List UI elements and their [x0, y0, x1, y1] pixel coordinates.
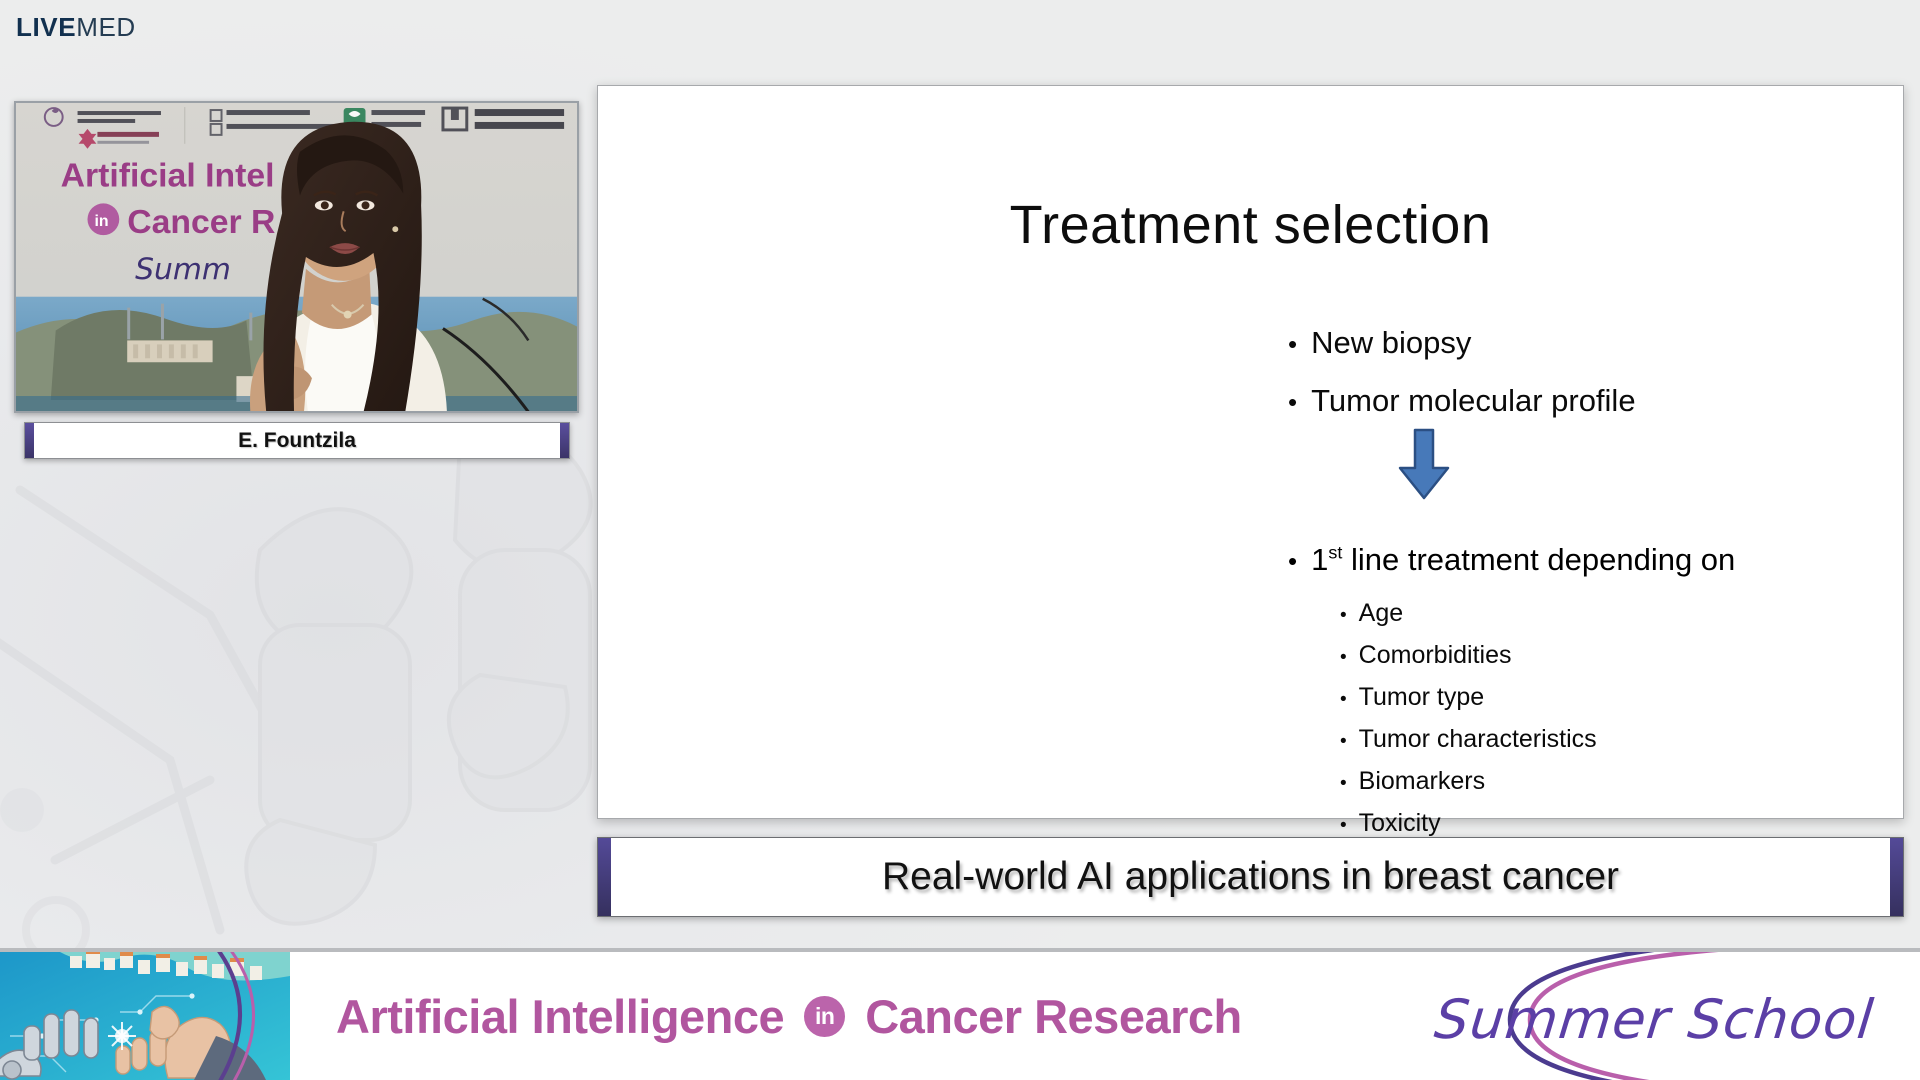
presentation-slide[interactable]: Treatment selection • New biopsy • Tumor… — [597, 85, 1904, 819]
footer-title-ai: Artificial Intelligence — [336, 989, 784, 1044]
sub-bullet-item: • Biomarkers — [1340, 769, 1860, 811]
logo-live-text: LIVE — [16, 12, 76, 42]
sub-bullet-dot-icon: • — [1340, 690, 1347, 709]
sub-bullet-dot-icon: • — [1340, 816, 1347, 835]
bullet-text: 1st line treatment depending on — [1311, 538, 1735, 583]
bullet-text: New biopsy — [1311, 321, 1471, 366]
svg-text:Artificial Intel: Artificial Intel — [61, 157, 275, 195]
speaker-video-player[interactable]: Artificial Intel in Cancer R Summ — [14, 101, 579, 413]
sub-bullet-text: Biomarkers — [1359, 769, 1485, 794]
sub-bullet-item: • Comorbidities — [1340, 643, 1860, 685]
sub-bullet-dot-icon: • — [1340, 732, 1347, 751]
sub-bullet-text: Toxicity — [1359, 811, 1441, 836]
down-arrow-icon — [1394, 428, 1454, 500]
bullet-item-0: • New biopsy — [1288, 321, 1888, 366]
svg-text:Summ: Summ — [135, 252, 231, 287]
speaker-name-bar: E. Fountzila — [24, 422, 570, 459]
bullet-dot-icon: • — [1288, 548, 1297, 574]
footer-title-cancer-research: Cancer Research — [865, 989, 1242, 1044]
sub-bullet-dot-icon: • — [1340, 606, 1347, 625]
bullet-text: Tumor molecular profile — [1311, 379, 1635, 424]
sub-bullet-text: Tumor characteristics — [1359, 727, 1597, 752]
speaker-name-label: E. Fountzila — [238, 429, 356, 453]
sub-bullet-dot-icon: • — [1340, 774, 1347, 793]
sub-bullet-text: Tumor type — [1359, 685, 1485, 710]
footer-event-title: Artificial Intelligence in Cancer Resear… — [336, 952, 1242, 1080]
svg-text:in: in — [94, 213, 108, 230]
summer-school-text: Summer School — [1432, 988, 1877, 1051]
sub-bullet-dot-icon: • — [1340, 648, 1347, 667]
bullet-item-2: • 1st line treatment depending on — [1288, 538, 1808, 583]
sub-bullet-text: Comorbidities — [1359, 643, 1512, 668]
sub-bullet-item: • Tumor characteristics — [1340, 727, 1860, 769]
bullet-dot-icon: • — [1288, 389, 1297, 415]
slide-bullet-list: • New biopsy • Tumor molecular profile — [1288, 321, 1888, 437]
session-caption-text: Real-world AI applications in breast can… — [882, 855, 1619, 899]
livemed-logo: LIVEMED — [16, 14, 136, 40]
app-root: LIVEMED — [0, 0, 1920, 1080]
bullet-item-1: • Tumor molecular profile — [1288, 379, 1888, 424]
in-badge-icon: in — [804, 996, 845, 1037]
bullet-dot-icon: • — [1288, 331, 1297, 357]
event-footer-banner: Artificial Intelligence in Cancer Resear… — [0, 948, 1920, 1080]
sub-bullet-item: • Tumor type — [1340, 685, 1860, 727]
session-caption-bar: Real-world AI applications in breast can… — [597, 837, 1904, 917]
sub-bullet-item: • Age — [1340, 601, 1860, 643]
svg-text:Cancer R: Cancer R — [127, 203, 275, 241]
slide-title: Treatment selection — [598, 194, 1903, 256]
sub-bullet-text: Age — [1359, 601, 1403, 626]
logo-med-text: MED — [76, 12, 136, 42]
